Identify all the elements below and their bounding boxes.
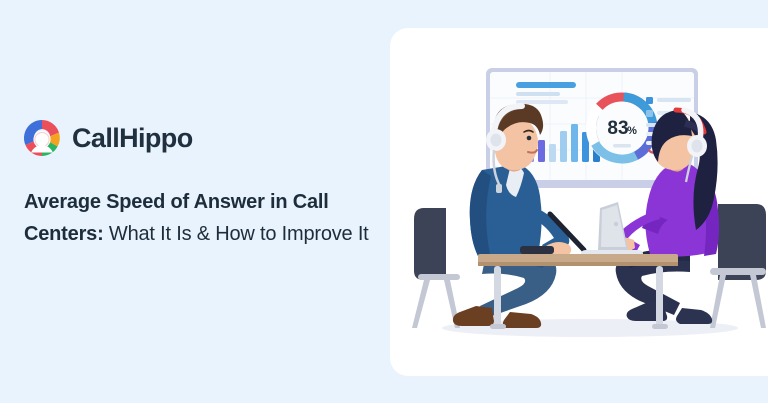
office-chair-left	[412, 208, 460, 328]
brand-name: CallHippo	[72, 125, 193, 152]
call-center-agents-illustration: 83 %	[390, 28, 768, 376]
page-title: Average Speed of Answer in Call Centers:…	[24, 186, 374, 250]
donut-center-value: 83	[607, 118, 628, 139]
illustration-card: 83 %	[390, 28, 768, 376]
callhippo-circle-logo-icon	[22, 118, 62, 158]
page-title-regular: What It Is & How to Improve It	[104, 223, 369, 245]
brand-lockup: CallHippo	[22, 118, 193, 158]
donut-center-unit: %	[627, 125, 637, 137]
left-text-panel: CallHippo Average Speed of Answer in Cal…	[0, 0, 392, 403]
